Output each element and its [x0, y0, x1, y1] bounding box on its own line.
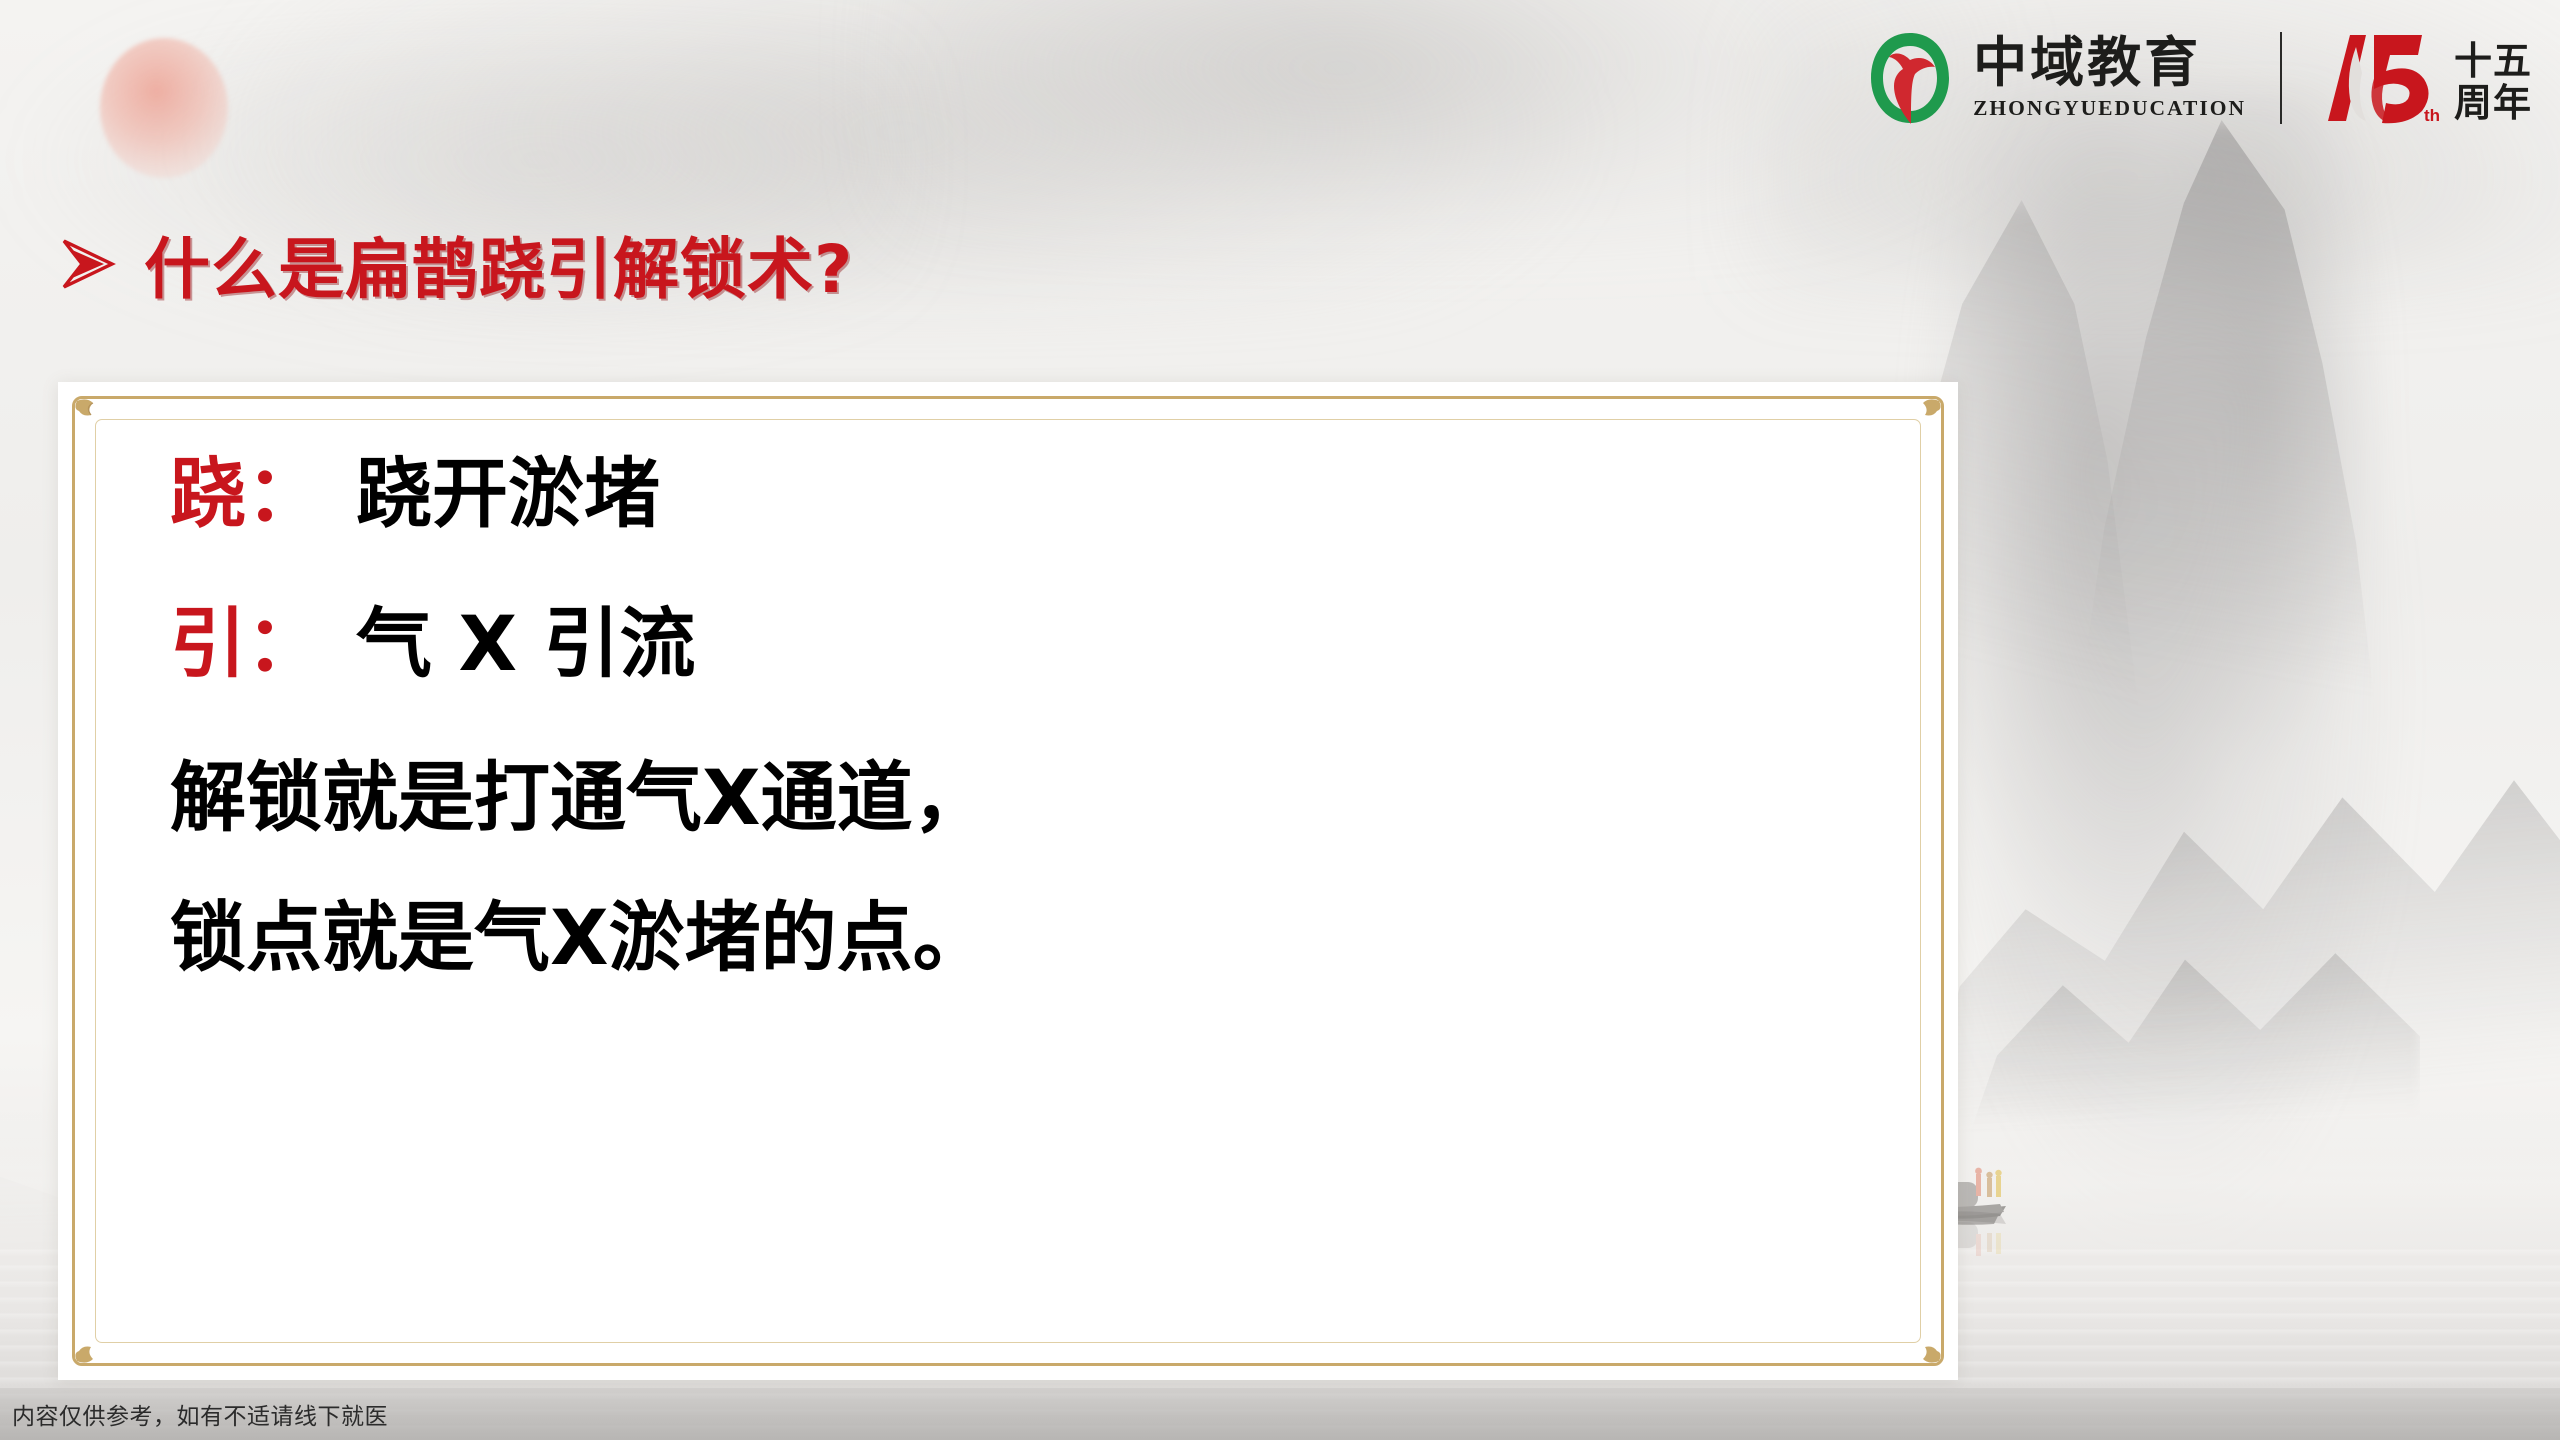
content-line-1-value: 跷开淤堵: [356, 456, 660, 532]
page-title: 什么是扁鹊跷引解锁术?: [60, 216, 853, 312]
brand-logo[interactable]: 中域教育 ZHONGYUEDUCATION th 十五 周年: [1867, 22, 2532, 134]
anniversary-15th-icon: th: [2316, 29, 2444, 127]
content-line-3-value: 解锁就是打通气X通道，: [170, 760, 989, 836]
content-line-2-value: 气 X 引流: [356, 606, 696, 682]
logo-divider: [2280, 32, 2282, 124]
content-line-3: 解锁就是打通气X通道，: [170, 760, 1878, 836]
pale-sun-circle-icon: [100, 38, 228, 178]
footer-disclaimer: 内容仅供参考，如有不适请线下就医: [0, 1397, 388, 1431]
anniversary-badge: th 十五 周年: [2316, 29, 2532, 127]
content-line-1-label: 跷：: [170, 456, 322, 532]
content-line-1: 跷： 跷开淤堵: [170, 456, 1878, 532]
green-circle-flame-icon: [1867, 30, 1953, 126]
anniversary-label: 十五 周年: [2454, 40, 2532, 127]
footer-bar: 内容仅供参考，如有不适请线下就医: [0, 1388, 2560, 1440]
brand-wordmark: 中域教育 ZHONGYUEDUCATION: [1973, 35, 2246, 120]
gold-leaf-corner-ornament-icon: [71, 1321, 117, 1367]
anniversary-line-1: 十五: [2454, 40, 2532, 83]
svg-text:th: th: [2424, 106, 2440, 125]
gold-leaf-corner-ornament-icon: [1899, 1321, 1945, 1367]
gold-leaf-corner-ornament-icon: [1899, 395, 1945, 441]
slide-canvas: 中域教育 ZHONGYUEDUCATION th 十五 周年 什么是扁鹊跷引解锁…: [0, 0, 2560, 1440]
cloud-wash-icon: [900, 0, 2000, 220]
content-card: 跷： 跷开淤堵 引： 气 X 引流 解锁就是打通气X通道， 锁点就是气X淤堵的点…: [58, 382, 1958, 1380]
brand-name-cn: 中域教育: [1973, 35, 2246, 90]
ink-wash-mountain-icon: [2020, 120, 2440, 760]
anniversary-line-2: 周年: [2454, 82, 2532, 125]
content-line-2: 引： 气 X 引流: [170, 606, 1878, 682]
brand-name-en: ZHONGYUEDUCATION: [1973, 96, 2246, 121]
content-line-4: 锁点就是气X淤堵的点。: [170, 900, 1878, 976]
page-title-text: 什么是扁鹊跷引解锁术?: [144, 216, 853, 312]
content-line-2-label: 引：: [170, 606, 322, 682]
content-line-4-value: 锁点就是气X淤堵的点。: [170, 900, 989, 976]
ink-wash-ridge-icon: [1920, 720, 2560, 1150]
card-content: 跷： 跷开淤堵 引： 气 X 引流 解锁就是打通气X通道， 锁点就是气X淤堵的点…: [170, 456, 1878, 1320]
gold-leaf-corner-ornament-icon: [71, 395, 117, 441]
arrow-right-bullet-icon: [60, 237, 116, 291]
